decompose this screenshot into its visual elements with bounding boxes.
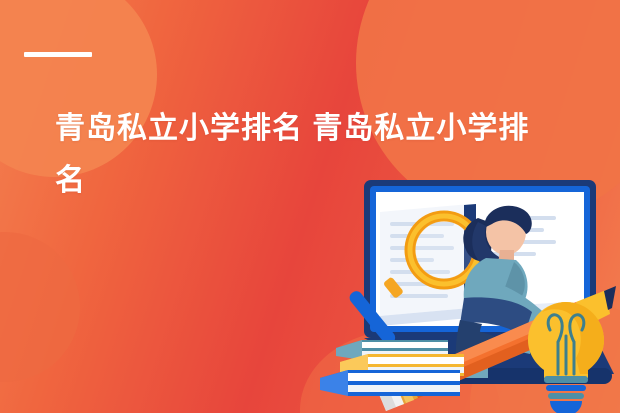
background-circle-bottom-left	[0, 232, 80, 382]
education-search-illustration	[318, 178, 620, 413]
book-stack	[320, 340, 464, 396]
banner-card: 青岛私立小学排名 青岛私立小学排名	[0, 0, 620, 413]
title-accent-rule	[24, 52, 92, 57]
lightbulb-icon	[528, 302, 604, 413]
